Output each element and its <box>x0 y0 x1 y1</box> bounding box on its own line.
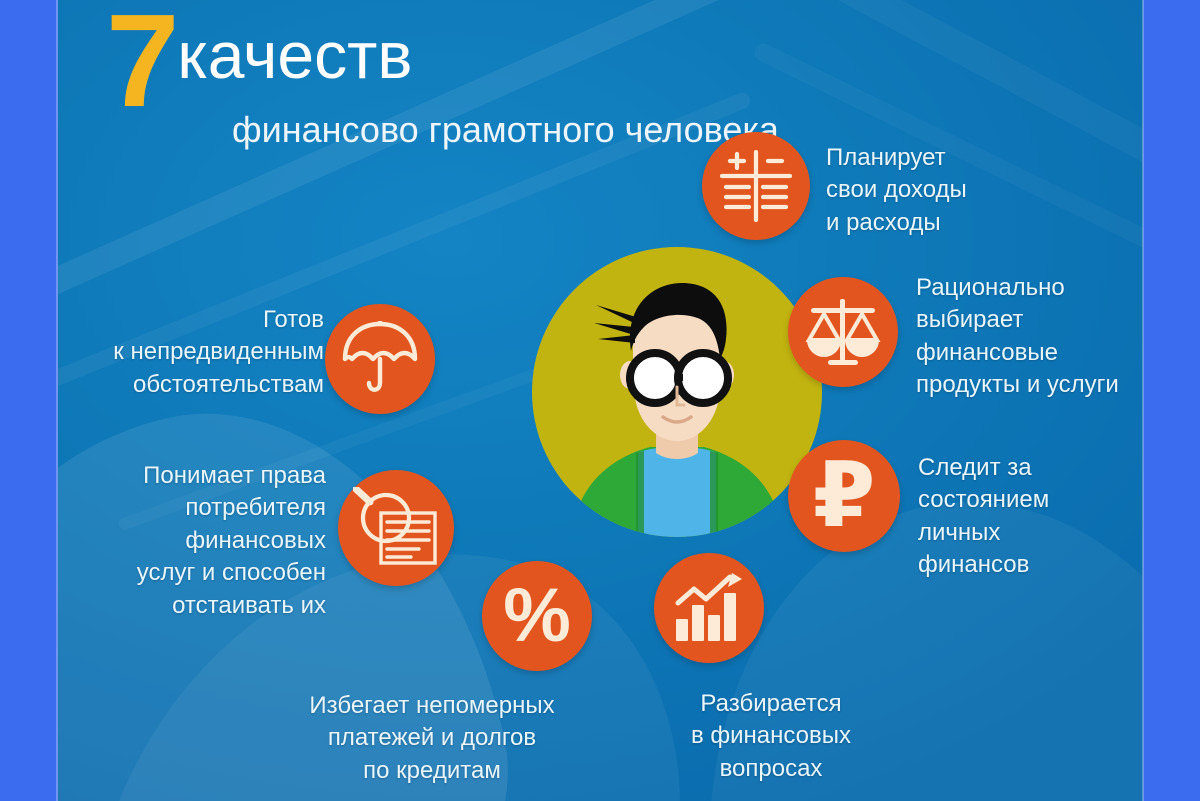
infographic-poster: 7 качеств финансово грамотного человека <box>0 0 1200 801</box>
quality-icon-ledger-plus-minus[interactable] <box>702 132 810 240</box>
frame-band-left <box>0 0 58 801</box>
quality-caption-consumer-rights: Понимает права потребителя финансовых ус… <box>64 460 326 622</box>
quality-icon-magnifier-document[interactable] <box>338 470 454 586</box>
umbrella-icon <box>340 321 420 397</box>
avatar-shirt <box>638 447 716 537</box>
quality-icon-ruble-sign[interactable]: ₽ <box>788 440 900 552</box>
quality-icon-scales-balance[interactable] <box>788 277 898 387</box>
quality-icon-umbrella[interactable] <box>325 304 435 414</box>
magnifier-document-icon <box>353 487 439 569</box>
scales-balance-icon <box>804 294 882 370</box>
title-subline: финансово грамотного человека <box>232 107 779 153</box>
title-first-row: 7 качеств <box>106 6 779 113</box>
frame-hairline-left <box>56 0 58 801</box>
title-headline: качеств <box>177 22 412 88</box>
poster-stage: 7 качеств финансово грамотного человека <box>58 0 1143 801</box>
quality-caption-unforeseen-circumstances: Готов к непредвиденным обстоятельствам <box>78 304 324 401</box>
quality-caption-avoid-debt: Избегает непомерных платежей и долгов по… <box>272 690 592 787</box>
percent-sign-icon: % <box>503 578 571 654</box>
avatar-illustration <box>532 247 822 537</box>
ledger-plus-minus-icon <box>720 150 792 222</box>
avatar <box>532 247 822 537</box>
title-number: 7 <box>106 10 175 113</box>
quality-icon-percent-sign[interactable]: % <box>482 561 592 671</box>
frame-band-right <box>1143 0 1200 801</box>
quality-icon-bar-chart-growth[interactable] <box>654 553 764 663</box>
bar-chart-growth-icon <box>672 573 746 643</box>
quality-caption-rational-choice: Рационально выбирает финансовые продукты… <box>916 272 1143 402</box>
frame-hairline-right <box>1142 0 1144 801</box>
ruble-sign-icon: ₽ <box>813 451 876 541</box>
poster-title: 7 качеств финансово грамотного человека <box>106 6 779 153</box>
quality-caption-financial-literacy: Разбирается в финансовых вопросах <box>646 688 896 785</box>
quality-caption-personal-finance: Следит за состоянием личных финансов <box>918 452 1143 582</box>
quality-caption-planning: Планирует свои доходы и расходы <box>826 142 1076 239</box>
